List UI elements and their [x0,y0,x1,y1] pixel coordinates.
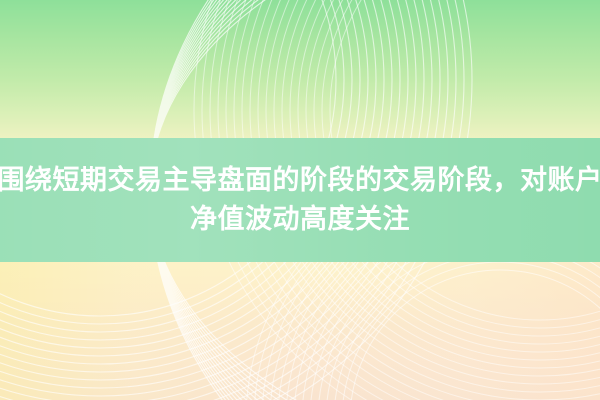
background-warm-right-tint [340,262,600,400]
background-warm-left-tint [0,262,300,400]
headline-line-1: 围绕短期交易主导盘面的阶段的交易阶段，对账户 [0,163,600,198]
headline-block: 围绕短期交易主导盘面的阶段的交易阶段，对账户 净值波动高度关注 [0,138,600,262]
headline-line-2: 净值波动高度关注 [190,202,410,237]
banner-graphic: 围绕短期交易主导盘面的阶段的交易阶段，对账户 净值波动高度关注 [0,0,600,400]
